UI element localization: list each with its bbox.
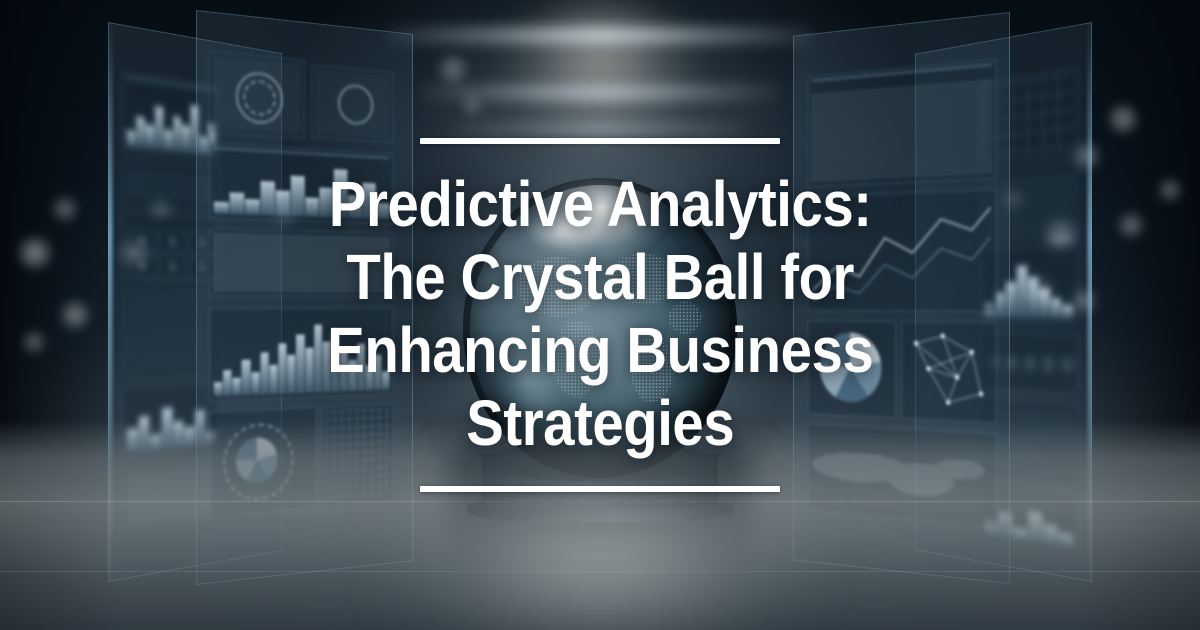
title-block: Predictive Analytics: The Crystal Ball f…	[0, 0, 1200, 630]
divider-top	[420, 138, 780, 144]
hero-banner: Predictive Analytics: The Crystal Ball f…	[0, 0, 1200, 630]
divider-bottom	[420, 486, 780, 492]
page-title: Predictive Analytics: The Crystal Ball f…	[292, 168, 908, 460]
